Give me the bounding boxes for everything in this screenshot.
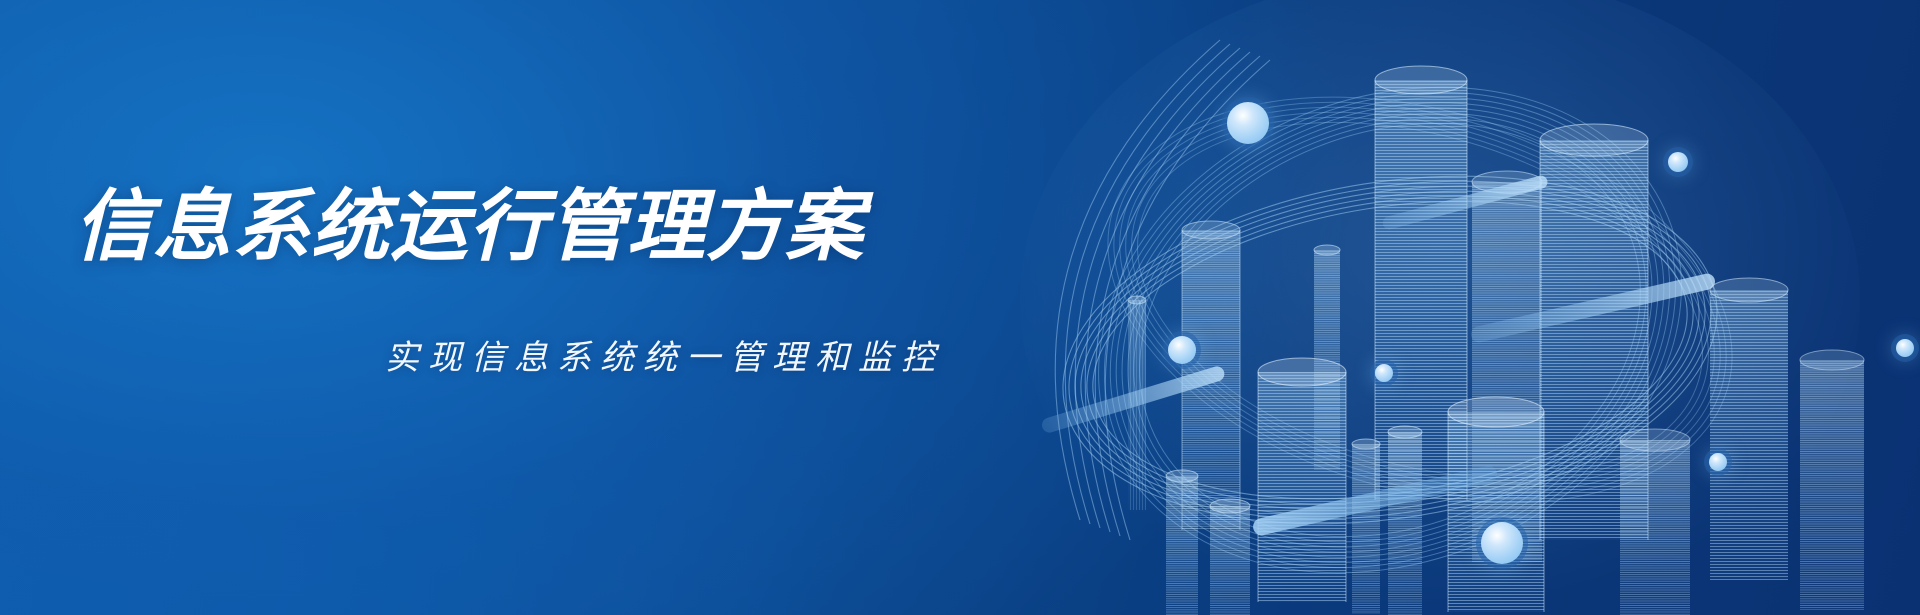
- page-subtitle: 实现信息系统统一管理和监控: [74, 330, 1114, 379]
- building-06: [1710, 278, 1788, 580]
- light-streak-4: [1381, 174, 1549, 231]
- glow-haze: [1020, 0, 1860, 615]
- building-05: [1314, 245, 1340, 470]
- glow-dot-1: [1227, 102, 1269, 144]
- orbit-rings-back: [1025, 3, 1755, 615]
- building-07: [1800, 350, 1864, 610]
- building-02: [1375, 66, 1467, 500]
- orbit-rings-secondary: [1060, 29, 1780, 571]
- glow-dot-6: [1709, 453, 1727, 471]
- light-streak-2: [1469, 272, 1716, 344]
- glow-dot-4: [1375, 364, 1393, 382]
- page-title: 信息系统运行管理方案: [74, 186, 864, 268]
- building-01: [1182, 221, 1240, 530]
- building-04: [1472, 171, 1542, 562]
- building-09: [1448, 397, 1544, 612]
- light-streak-3: [1251, 464, 1498, 537]
- building-03: [1540, 124, 1648, 540]
- glow-dot-5: [1481, 522, 1523, 564]
- building-cluster-back: [1182, 66, 1864, 610]
- glow-dot-7: [1896, 339, 1914, 357]
- building-12: [1352, 439, 1380, 614]
- building-14: [1620, 429, 1690, 615]
- building-13: [1388, 426, 1422, 615]
- building-11: [1210, 499, 1250, 615]
- hero-text-block: 信息系统运行管理方案 实现信息系统统一管理和监控: [0, 0, 1080, 615]
- building-10: [1166, 470, 1198, 615]
- building-15: [1128, 296, 1146, 510]
- light-streaks: [1040, 174, 1716, 537]
- glow-dot-2: [1668, 152, 1688, 172]
- building-08: [1258, 358, 1346, 602]
- glow-dot-3: [1168, 336, 1196, 364]
- orbit-rings-front: [1038, 132, 1742, 567]
- banner-hero: 信息系统运行管理方案 实现信息系统统一管理和监控: [0, 0, 1920, 615]
- building-cluster-front: [1128, 296, 1690, 615]
